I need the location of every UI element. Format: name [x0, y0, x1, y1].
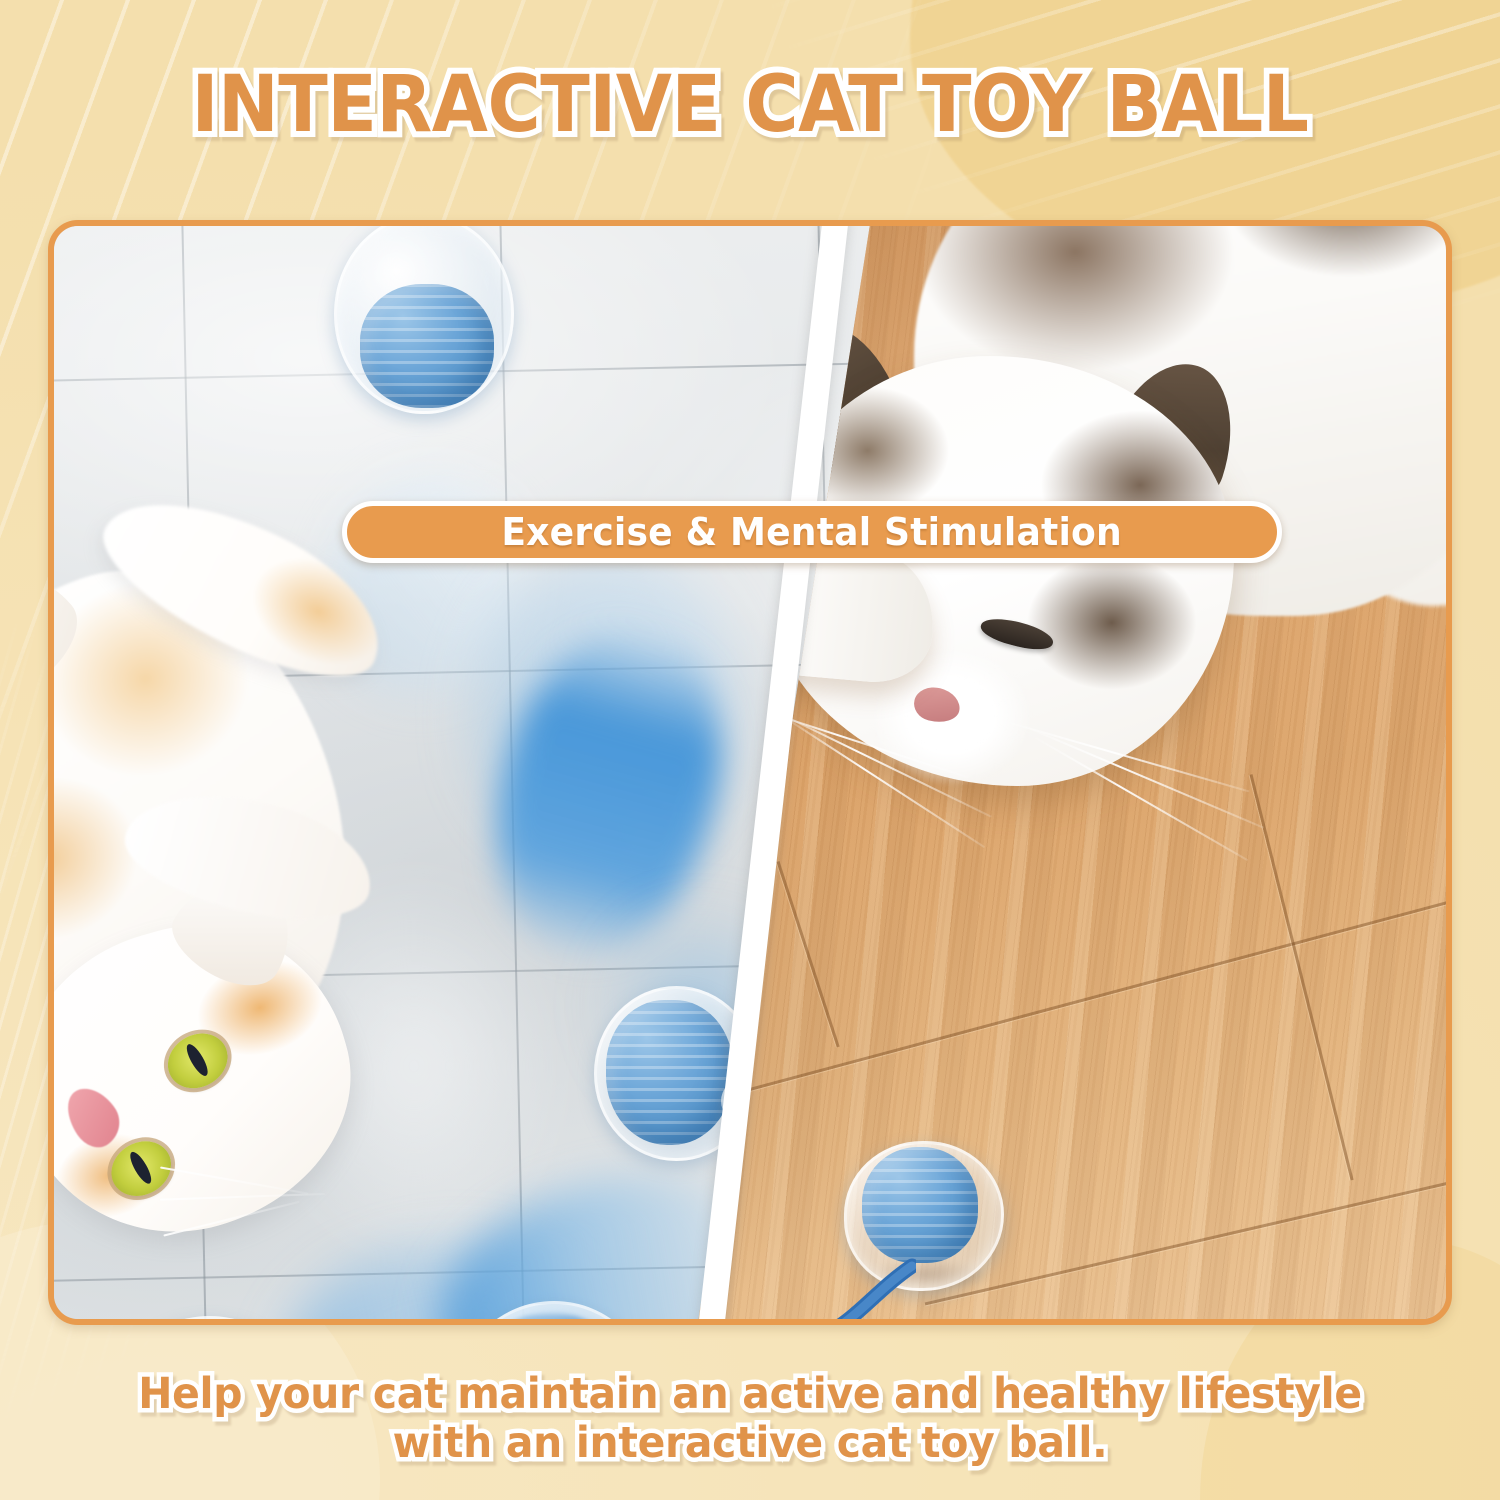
- ball-clear-shell: [102, 1316, 317, 1325]
- ball-blue-core: [862, 1147, 978, 1263]
- ball-blue-core: [360, 284, 494, 408]
- feature-banner: Exercise & Mental Stimulation: [342, 501, 1282, 563]
- product-photo-panel: Exercise & Mental Stimulation: [48, 220, 1452, 1325]
- toy-ball-with-rope: [844, 1141, 1004, 1291]
- ball-blue-core: [470, 1313, 632, 1325]
- ball-blue-core: [606, 1000, 733, 1145]
- page-title: INTERACTIVE CAT TOY BALL: [53, 66, 1448, 144]
- toy-ball-bottom-middle: [454, 1301, 654, 1325]
- toy-ball-bottom-left: [102, 1316, 317, 1325]
- page-caption: Help your cat maintain an active and hea…: [38, 1370, 1463, 1467]
- toy-ball-top: [334, 220, 514, 414]
- cat-whisker: [1035, 737, 1248, 861]
- feature-banner-label: Exercise & Mental Stimulation: [502, 510, 1123, 554]
